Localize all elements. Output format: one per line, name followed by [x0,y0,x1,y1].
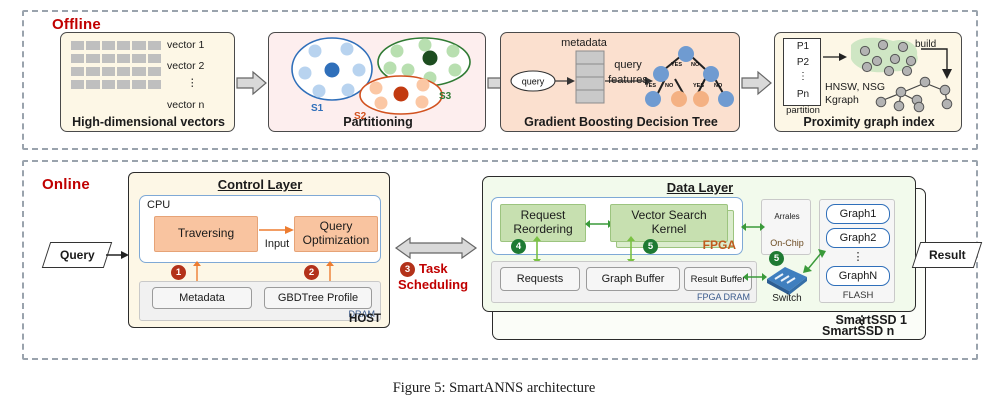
partition-item: Pn [784,89,822,100]
partitioning-panel: S1 S2 S3 Partitioning [268,32,486,132]
task-scheduling-arrow [396,238,476,258]
graph-ellipsis: ⋮ [820,250,896,263]
arrow-vectors-to-partitioning [237,72,267,94]
cpu-label: CPU [147,199,170,211]
partitioning-panel-title: Partitioning [269,115,487,129]
arrow-kernel-graphbuffer [625,237,637,263]
offline-label: Offline [52,16,101,33]
control-layer-title: Control Layer [129,177,391,192]
graph-chip-label: Graph1 [840,208,877,220]
metadata-label: metadata [549,37,619,49]
control-layer: Control Layer CPU Traversing Input Query… [128,172,390,328]
figure-caption: Figure 5: SmartANNS architecture [0,380,988,397]
data-layer-title: Data Layer [483,180,917,195]
fpga-label: FPGA [703,238,736,252]
fpga-dram-box: Requests Graph Buffer Result Buffer FPGA… [491,261,757,303]
vector-row-label: vector 2 [167,60,204,72]
cluster-label-s1: S1 [311,103,323,114]
arrow-fpga-onchip [743,221,763,233]
input-label: Input [258,238,296,250]
algo-names-line2: Kgraph [825,94,859,106]
arrow-reordering-kernel [587,218,611,230]
vectors-panel-title: High-dimensional vectors [61,115,236,129]
request-reordering-line1: Request [521,209,566,223]
gbdt-panel: metadata query YES NO YES NO YES NO quer… [500,32,740,132]
metadata-chip-label: Metadata [179,292,225,304]
online-label: Online [42,176,90,193]
build-label: build [915,39,936,50]
graph-chip-label: Graph2 [840,232,877,244]
gbdtree-profile-label: GBDTree Profile [278,292,358,304]
vector-row-label: ⋮ [187,77,198,89]
badge-query-optimization: 2 [304,265,319,280]
gbdt-panel-title: Gradient Boosting Decision Tree [501,115,741,129]
badge-request-reordering: 4 [511,239,526,254]
switch-label: Switch [761,293,813,304]
svg-text:NO: NO [691,62,700,68]
proximity-panel-title: Proximity graph index [775,115,963,129]
traversing-box[interactable]: Traversing [154,216,258,252]
arrow-query-to-control [106,249,130,261]
requests-chip[interactable]: Requests [500,267,580,291]
graph-chip[interactable]: Graph2 [826,228,890,248]
request-reordering-line2: Reordering [513,223,572,237]
partition-item: P1 [784,41,822,52]
vector-search-kernel-line2: Kernel [652,223,687,237]
on-chip-box: Arrales On-Chip [761,199,811,255]
query-optimization-label-line1: Query [320,220,353,234]
arrow-resultbuffer-switch [745,271,765,283]
result-output-tag: Result [912,242,982,268]
graph-buffer-label: Graph Buffer [602,273,665,285]
graph-chip[interactable]: Graph1 [826,204,890,224]
query-input-tag: Query [42,242,112,268]
dram-box: Metadata GBDTree Profile DRAM [139,281,381,321]
graph-chip-label: GraphN [839,270,878,282]
on-chip-arrays-label: Arrales [762,212,812,221]
badge-traversing: 1 [171,265,186,280]
svg-text:NO: NO [665,83,674,89]
traversing-label: Traversing [178,227,234,241]
svg-text:YES: YES [671,62,682,68]
flash-label: FLASH [820,290,896,301]
vector-search-kernel-line1: Vector Search [631,209,706,223]
switch-icon [763,261,811,295]
result-buffer-label: Result Buffer [691,274,746,285]
badge-vector-search-kernel: 5 [643,239,658,254]
result-buffer-chip[interactable]: Result Buffer [684,267,752,291]
arrow-switch-flash [805,247,827,273]
result-output-label: Result [929,248,966,262]
vector-grid [71,41,161,89]
host-label: HOST [349,313,381,325]
high-dimensional-vectors-panel: vector 1 vector 2 ⋮ vector n High-dimens… [60,32,235,132]
data-layer: Data Layer Request Reordering Vector Sea… [482,176,916,312]
query-input-label: Query [60,248,95,262]
svg-text:query: query [522,77,545,87]
request-reordering-box[interactable]: Request Reordering [500,204,586,242]
cluster-label-s3: S3 [439,91,451,102]
algo-names-line1: HNSW, NSG [825,81,885,93]
arrow-traversing-to-query-opt [259,224,295,236]
graph-chip[interactable]: GraphN [826,266,890,286]
smartssd-first-label: SmartSSD 1 [835,313,907,327]
gbdtree-profile-chip[interactable]: GBDTree Profile [264,287,372,309]
task-scheduling-label-line2: Scheduling [398,277,468,292]
vector-row-label: vector n [167,99,204,111]
requests-label: Requests [517,273,563,285]
proximity-graph-panel: P1 P2 ⋮ Pn partition build H [774,32,962,132]
cpu-box: CPU Traversing Input Query Optimization [139,195,381,263]
query-optimization-label-line2: Optimization [303,234,370,248]
metadata-chip[interactable]: Metadata [152,287,252,309]
fpga-box: Request Reordering Vector Search Kernel … [491,197,743,255]
partition-item: ⋮ [784,71,822,82]
svg-text:NO: NO [714,83,723,89]
fpga-dram-label: FPGA DRAM [697,292,750,302]
svg-text:YES: YES [693,83,704,89]
partition-item: P2 [784,57,822,68]
arrow-gbdt-to-proximity [742,72,772,94]
query-optimization-box[interactable]: Query Optimization [294,216,378,252]
vector-row-label: vector 1 [167,39,204,51]
arrow-reordering-requests [531,237,543,263]
partition-list: P1 P2 ⋮ Pn [783,38,821,106]
query-features-label-line1: query [605,59,651,71]
badge-switch: 5 [769,251,784,266]
flash-box: Graph1 Graph2 ⋮ GraphN FLASH [819,199,895,303]
task-scheduling-label-line1: Task [419,261,448,276]
query-features-label-line2: features [601,74,655,86]
graph-buffer-chip[interactable]: Graph Buffer [586,267,680,291]
badge-task-scheduling: 3 [400,262,415,277]
